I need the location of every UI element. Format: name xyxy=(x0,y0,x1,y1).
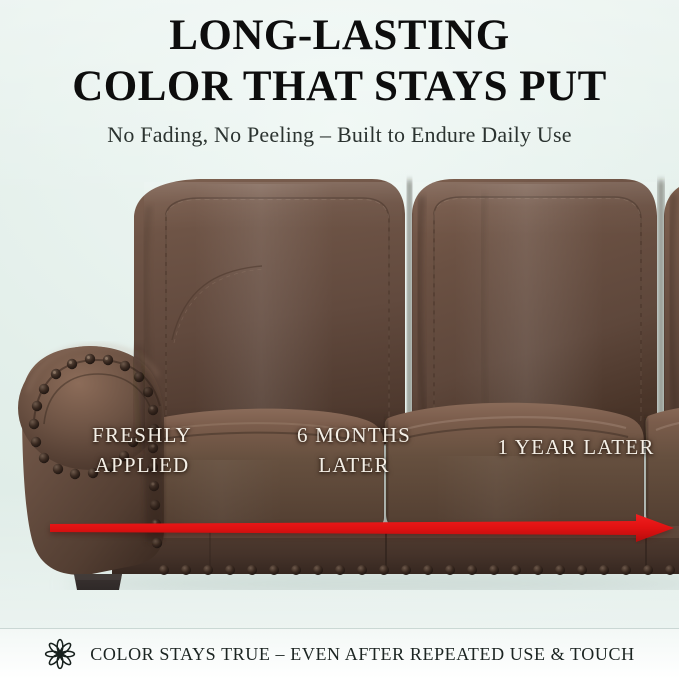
footer-bar: COLOR STAYS TRUE – EVEN AFTER REPEATED U… xyxy=(0,629,679,679)
page-title-line-1: LONG-LASTING xyxy=(0,14,679,57)
timeline-label-six-months-later: 6 MONTHS LATER xyxy=(288,420,420,481)
timeline-label-one-year-later: 1 YEAR LATER xyxy=(486,432,666,462)
back-cushion-right xyxy=(664,179,679,446)
header-block: LONG-LASTING COLOR THAT STAYS PUT No Fad… xyxy=(0,14,679,148)
footer-tagline: COLOR STAYS TRUE – EVEN AFTER REPEATED U… xyxy=(90,644,634,665)
arrow-shaft-and-head xyxy=(50,514,674,542)
promo-image-root: LONG-LASTING COLOR THAT STAYS PUT No Fad… xyxy=(0,0,679,679)
flower-asterisk-icon xyxy=(44,638,76,670)
page-title-line-2: COLOR THAT STAYS PUT xyxy=(0,65,679,108)
sofa-leg-left xyxy=(74,574,122,590)
back-cushion-left xyxy=(134,179,405,446)
timeline-label-freshly-applied: FRESHLY APPLIED xyxy=(70,420,214,481)
page-subtitle: No Fading, No Peeling – Built to Endure … xyxy=(0,122,679,148)
timeline-arrow xyxy=(44,505,679,553)
